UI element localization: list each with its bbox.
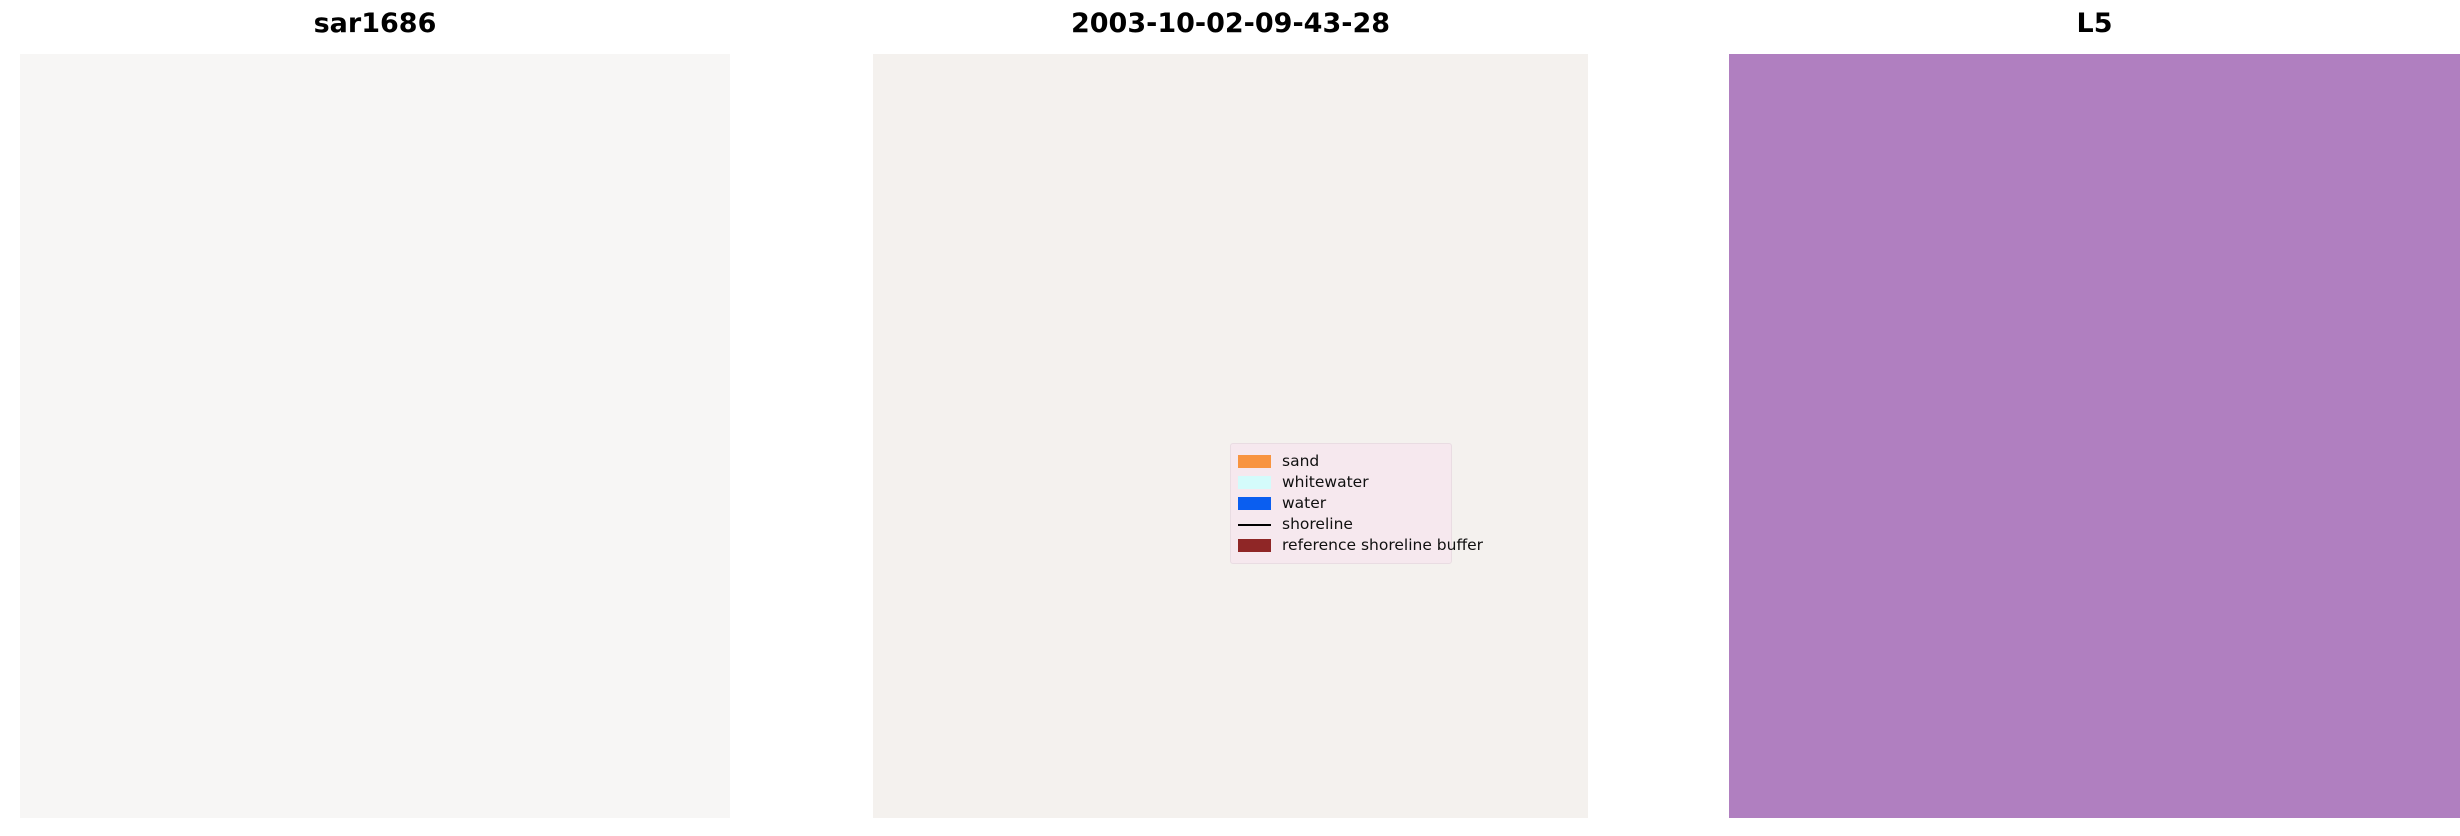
legend-item-shoreline: shoreline xyxy=(1238,514,1442,535)
panel-title-sar: sar1686 xyxy=(20,8,730,39)
legend-swatch-shoreline xyxy=(1238,524,1271,526)
sar-image xyxy=(20,54,730,818)
legend-item-sand: sand xyxy=(1238,451,1442,472)
legend-item-reference-shoreline-buffer: reference shoreline buffer xyxy=(1238,535,1442,556)
l5-image-axes[interactable] xyxy=(1729,54,2460,818)
panel-title-l5: L5 xyxy=(1729,8,2460,39)
l5-image xyxy=(1729,54,2460,818)
figure: sar1686 2003-10-02-09-43-28 sand whitewa… xyxy=(0,0,2460,836)
legend-swatch-reference-shoreline-buffer xyxy=(1238,539,1271,552)
panel-title-classification: 2003-10-02-09-43-28 xyxy=(873,8,1588,39)
legend-label-whitewater: whitewater xyxy=(1282,475,1369,491)
legend-label-water: water xyxy=(1282,496,1326,512)
legend-swatch-water xyxy=(1238,497,1271,510)
legend-label-reference-shoreline-buffer: reference shoreline buffer xyxy=(1282,538,1483,554)
legend-item-water: water xyxy=(1238,493,1442,514)
classification-map xyxy=(873,54,1588,818)
legend-label-sand: sand xyxy=(1282,454,1319,470)
sar-image-axes[interactable] xyxy=(20,54,730,818)
legend-label-shoreline: shoreline xyxy=(1282,517,1353,533)
legend: sand whitewater water shoreline referenc… xyxy=(1230,443,1452,564)
legend-swatch-whitewater xyxy=(1238,476,1271,489)
legend-swatch-sand xyxy=(1238,455,1271,468)
classification-map-axes[interactable]: sand whitewater water shoreline referenc… xyxy=(873,54,1588,818)
legend-item-whitewater: whitewater xyxy=(1238,472,1442,493)
